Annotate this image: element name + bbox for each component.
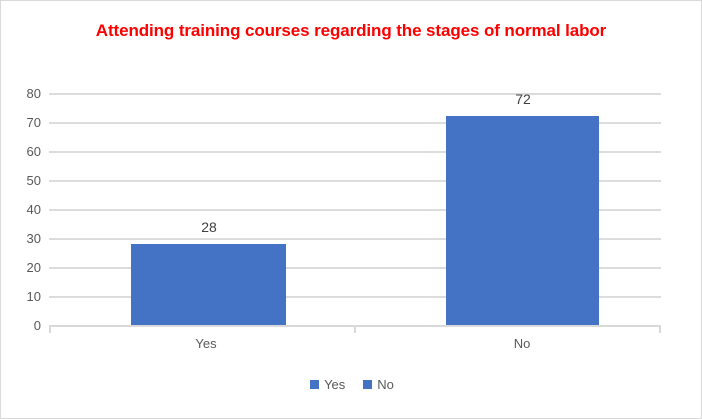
legend-label-no: No (377, 378, 394, 391)
bar-no[interactable] (446, 116, 599, 325)
chart-title-line-1: Attending training courses regarding the… (96, 21, 561, 40)
x-axis-tick-middle (354, 327, 356, 333)
y-tick-40: 40 (7, 203, 41, 216)
y-tick-30: 30 (7, 232, 41, 245)
bar-yes[interactable] (131, 244, 286, 325)
y-tick-60: 60 (7, 145, 41, 158)
y-tick-10: 10 (7, 290, 41, 303)
y-axis: 80 70 60 50 40 30 20 10 0 (1, 93, 41, 325)
chart-legend: Yes No (1, 378, 702, 391)
chart-title: Attending training courses regarding the… (61, 19, 641, 43)
data-label-no: 72 (483, 92, 563, 106)
x-category-no: No (462, 337, 582, 350)
legend-swatch-icon (363, 380, 372, 389)
legend-label-yes: Yes (324, 378, 345, 391)
legend-item-no[interactable]: No (363, 378, 394, 391)
x-axis-tick-start (49, 327, 51, 333)
legend-item-yes[interactable]: Yes (310, 378, 345, 391)
bar-chart: Attending training courses regarding the… (0, 0, 702, 419)
legend-swatch-icon (310, 380, 319, 389)
y-tick-80: 80 (7, 87, 41, 100)
plot-area (49, 93, 661, 325)
gridline-80 (49, 93, 661, 95)
y-tick-20: 20 (7, 261, 41, 274)
y-tick-0: 0 (7, 319, 41, 332)
x-axis-tick-end (659, 327, 661, 333)
data-label-yes: 28 (169, 220, 249, 234)
x-category-yes: Yes (146, 337, 266, 350)
chart-title-line-2: labor (565, 21, 606, 40)
y-tick-70: 70 (7, 116, 41, 129)
y-tick-50: 50 (7, 174, 41, 187)
